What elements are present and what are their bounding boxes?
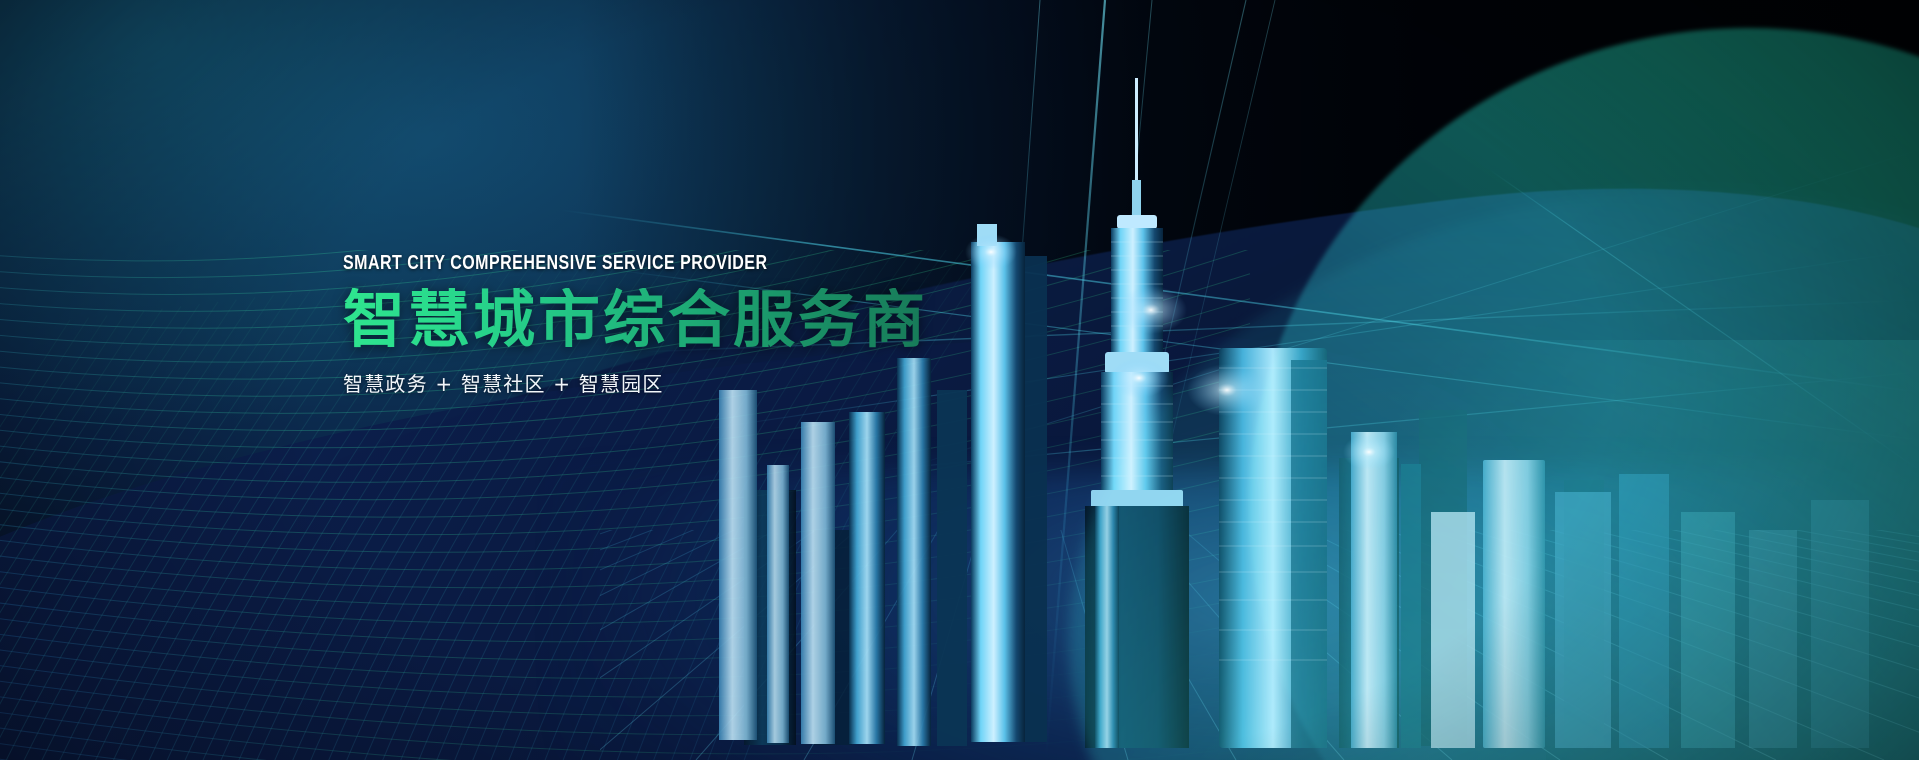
hero-copy-block: SMART CITY COMPREHENSIVE SERVICE PROVIDE… [343,252,928,397]
hero-eyebrow: SMART CITY COMPREHENSIVE SERVICE PROVIDE… [343,252,811,274]
hero-subline: 智慧政务 + 智慧社区 + 智慧园区 [343,368,928,397]
green-wash-overlay [1159,340,1919,760]
hero-headline: 智慧城市综合服务商 [343,288,928,352]
hero-banner: SMART CITY COMPREHENSIVE SERVICE PROVIDE… [0,0,1919,760]
